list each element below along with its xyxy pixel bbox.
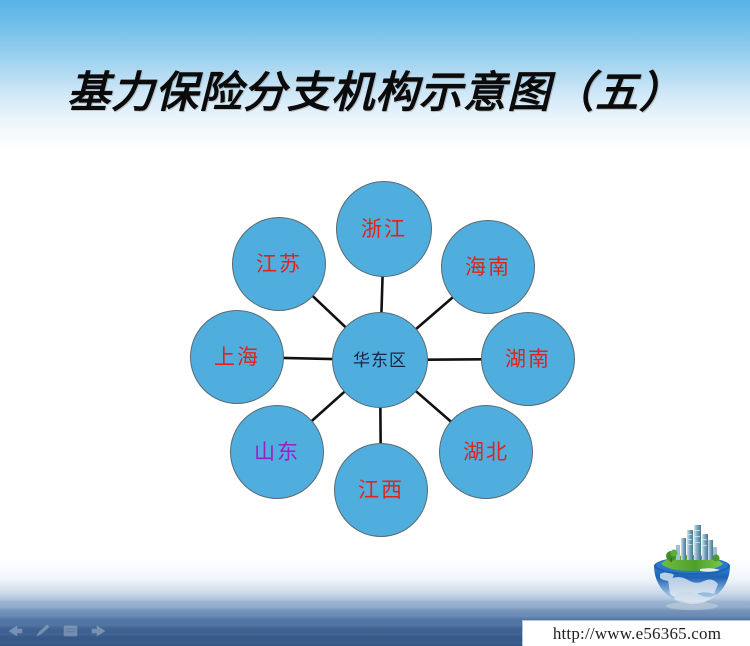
diagram-node-label-hainan: 海南 [465,257,511,278]
diagram-node-hainan[interactable]: 海南 [441,220,535,314]
watermark-url-text: http://www.e56365.com [553,624,721,644]
diagram-edge-hubei [415,391,451,422]
diagram-edge-hainan [416,297,454,329]
earth-city-logo [648,522,736,614]
presentation-controls[interactable] [6,620,126,642]
diagram-node-label-hubei: 湖北 [463,442,509,463]
diagram-edge-jiangsu [312,296,346,328]
diagram-node-shanghai[interactable]: 上海 [190,310,284,404]
diagram-edge-shandong [311,391,345,421]
slide-menu-icon[interactable] [62,624,79,638]
previous-slide-icon[interactable] [6,624,24,638]
diagram-node-hunan[interactable]: 湖南 [481,312,575,406]
diagram-node-label-shandong: 山东 [254,442,300,463]
diagram-node-label-jiangsu: 江苏 [256,254,302,275]
diagram-node-label-zhejiang: 浙江 [361,219,407,240]
diagram-node-label-jiangxi: 江西 [358,480,404,501]
slide-canvas: 基力保险分支机构示意图（五） 浙江海南湖南湖北江西山东上海江苏华东区 [0,0,750,646]
diagram-node-label-hunan: 湖南 [505,349,551,370]
diagram-node-center[interactable]: 华东区 [332,312,428,408]
diagram-node-hubei[interactable]: 湖北 [439,405,533,499]
city-skyline [676,525,717,560]
next-slide-icon[interactable] [90,624,108,638]
diagram-node-zhejiang[interactable]: 浙江 [336,181,432,277]
diagram-edge-shanghai [283,358,333,359]
watermark-url-plate: http://www.e56365.com [522,620,750,646]
diagram-edge-zhejiang [381,276,382,313]
diagram-node-jiangsu[interactable]: 江苏 [232,217,326,311]
diagram-node-label-center: 华东区 [353,352,407,369]
diagram-node-label-shanghai: 上海 [214,347,260,368]
pen-tool-icon[interactable] [35,624,51,638]
diagram-node-jiangxi[interactable]: 江西 [334,443,428,537]
globe-shadow [666,602,718,610]
diagram-node-shandong[interactable]: 山东 [230,405,324,499]
org-structure-diagram: 浙江海南湖南湖北江西山东上海江苏华东区 [0,0,750,646]
